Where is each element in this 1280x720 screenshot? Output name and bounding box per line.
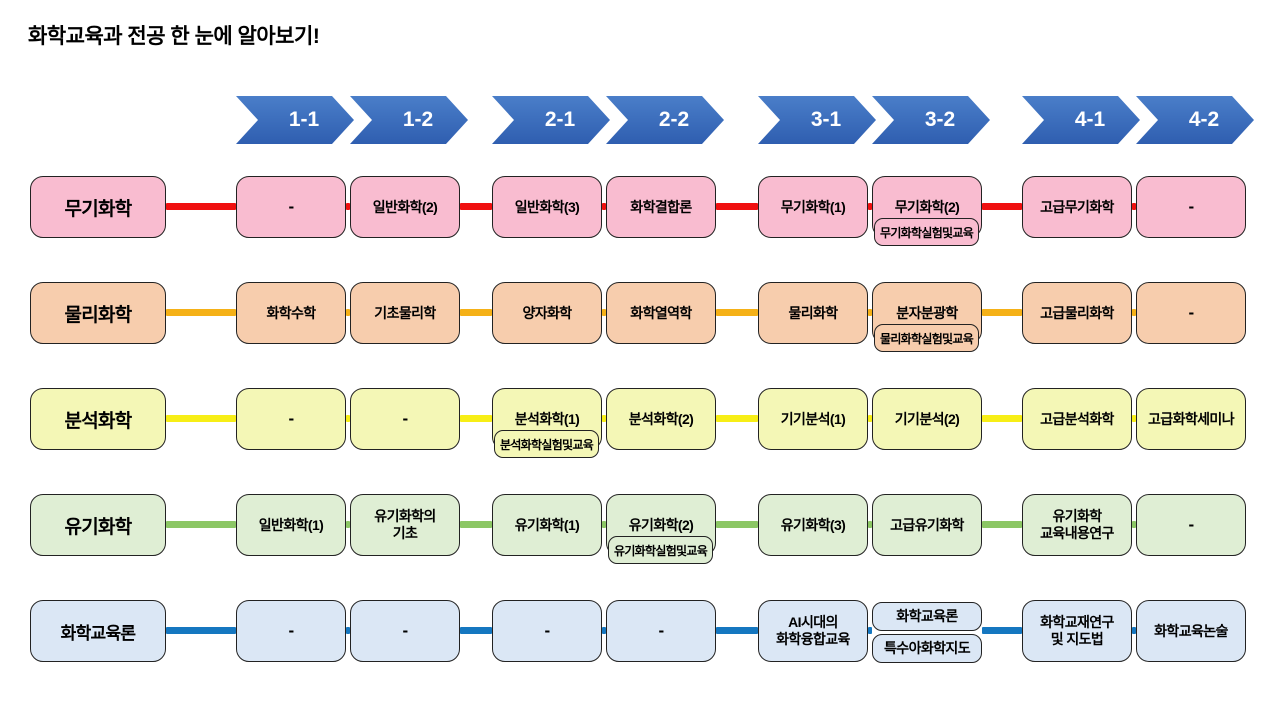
connector-bar	[716, 415, 758, 422]
course-cell[interactable]: 기기분석(1)	[758, 388, 868, 450]
connector-bar	[166, 627, 236, 634]
course-cell-label: 고급유기화학	[890, 517, 964, 534]
course-cell-label: 일반화학(2)	[373, 199, 437, 216]
course-cell[interactable]: 화학교재연구및 지도법	[1022, 600, 1132, 662]
connector-bar	[716, 203, 758, 210]
connector-bar	[982, 415, 1022, 422]
course-cell-label: 무기화학(1)	[781, 199, 845, 216]
connector-bar	[982, 627, 1022, 634]
course-cell-label: AI시대의화학융합교육	[776, 614, 850, 647]
course-cell-label: 유기화학(2)	[629, 517, 693, 534]
course-cell[interactable]: 무기화학(1)	[758, 176, 868, 238]
course-cell[interactable]: 기기분석(2)	[872, 388, 982, 450]
course-cell-label: -	[658, 621, 663, 641]
course-cell[interactable]: 화학교육논술	[1136, 600, 1246, 662]
course-cell-label: 화학교육논술	[1154, 623, 1228, 640]
course-lab-sublabel[interactable]: 분석화학실험및교육	[494, 430, 599, 458]
course-cell-label: 분석화학(1)	[515, 411, 579, 428]
track-label-inorganic[interactable]: 무기화학	[30, 176, 166, 238]
track-education: 화학교육론----AI시대의화학융합교육화학교육론특수아화학지도화학교재연구및 …	[0, 600, 1280, 700]
course-cell[interactable]: 고급유기화학	[872, 494, 982, 556]
connector-bar	[982, 309, 1022, 316]
course-cell-label: 일반화학(1)	[259, 517, 323, 534]
connector-bar	[460, 627, 492, 634]
semester-chevron-label: 2-2	[659, 108, 689, 132]
course-cell[interactable]: 일반화학(1)	[236, 494, 346, 556]
course-cell-label: 분자분광학	[896, 305, 957, 322]
course-cell-label: 유기화학(1)	[515, 517, 579, 534]
connector-bar	[982, 521, 1022, 528]
course-lab-sublabel[interactable]: 무기화학실험및교육	[874, 218, 979, 246]
connector-bar	[716, 627, 758, 634]
connector-bar	[166, 203, 236, 210]
semester-chevron-2-2[interactable]: 2-2	[606, 96, 724, 144]
track-label-education[interactable]: 화학교육론	[30, 600, 166, 662]
course-cell[interactable]: 고급화학세미나	[1136, 388, 1246, 450]
course-lab-sublabel-text: 분석화학실험및교육	[500, 436, 593, 453]
course-cell-label: 유기화학교육내용연구	[1040, 508, 1114, 541]
track-analytical: 분석화학--분석화학(1)분석화학실험및교육분석화학(2)기기분석(1)기기분석…	[0, 388, 1280, 488]
course-cell-label: 화학교육론	[896, 608, 957, 625]
course-cell-empty: -	[236, 388, 346, 450]
track-label-physical[interactable]: 물리화학	[30, 282, 166, 344]
course-cell-label: 기기분석(2)	[895, 411, 959, 428]
track-organic: 유기화학일반화학(1)유기화학의기초유기화학(1)유기화학(2)유기화학실험및교…	[0, 494, 1280, 594]
semester-chevron-3-1[interactable]: 3-1	[758, 96, 876, 144]
semester-chevron-label: 4-2	[1189, 108, 1219, 132]
semester-chevron-label: 3-2	[925, 108, 955, 132]
track-label-text: 물리화학	[64, 300, 131, 327]
course-cell[interactable]: 고급분석화학	[1022, 388, 1132, 450]
course-cell-label: 화학결합론	[630, 199, 691, 216]
course-cell-label: 고급화학세미나	[1148, 411, 1234, 428]
course-cell[interactable]: 고급물리화학	[1022, 282, 1132, 344]
semester-chevron-label: 4-1	[1075, 108, 1105, 132]
course-cell-empty: -	[1136, 282, 1246, 344]
connector-bar	[460, 415, 492, 422]
course-cell-label: -	[402, 621, 407, 641]
course-cell-label: 분석화학(2)	[629, 411, 693, 428]
course-cell[interactable]: 특수아화학지도	[872, 634, 982, 663]
connector-stub	[868, 627, 872, 634]
course-cell-label: 고급물리화학	[1040, 305, 1114, 322]
semester-chevron-1-2[interactable]: 1-2	[350, 96, 468, 144]
course-cell-label: 유기화학(3)	[781, 517, 845, 534]
course-cell[interactable]: 일반화학(2)	[350, 176, 460, 238]
semester-chevron-label: 1-1	[289, 108, 319, 132]
course-cell[interactable]: 양자화학	[492, 282, 602, 344]
course-cell-label: 기기분석(1)	[781, 411, 845, 428]
course-cell-label: 물리화학	[788, 305, 837, 322]
course-cell-label: 고급분석화학	[1040, 411, 1114, 428]
course-cell-empty: -	[606, 600, 716, 662]
course-cell-label: -	[1188, 197, 1193, 217]
course-lab-sublabel[interactable]: 물리화학실험및교육	[874, 324, 979, 352]
course-cell-label: 특수아화학지도	[884, 640, 970, 657]
track-label-text: 분석화학	[64, 406, 131, 433]
track-physical: 물리화학화학수학기초물리학양자화학화학열역학물리화학분자분광학물리화학실험및교육…	[0, 282, 1280, 382]
connector-bar	[716, 309, 758, 316]
semester-chevron-label: 2-1	[545, 108, 575, 132]
track-label-organic[interactable]: 유기화학	[30, 494, 166, 556]
course-lab-sublabel-text: 물리화학실험및교육	[880, 330, 973, 347]
course-cell-empty: -	[492, 600, 602, 662]
semester-chevron-label: 1-2	[403, 108, 433, 132]
course-cell-label: 고급무기화학	[1040, 199, 1114, 216]
connector-bar	[166, 309, 236, 316]
course-cell[interactable]: 유기화학의기초	[350, 494, 460, 556]
course-cell-label: -	[1188, 515, 1193, 535]
course-cell[interactable]: 유기화학(1)	[492, 494, 602, 556]
connector-bar	[166, 415, 236, 422]
course-cell-label: -	[402, 409, 407, 429]
semester-chevron-1-1[interactable]: 1-1	[236, 96, 354, 144]
course-cell[interactable]: 유기화학교육내용연구	[1022, 494, 1132, 556]
semester-chevron-2-1[interactable]: 2-1	[492, 96, 610, 144]
course-cell[interactable]: 물리화학	[758, 282, 868, 344]
track-label-text: 무기화학	[64, 194, 131, 221]
course-cell-label: 일반화학(3)	[515, 199, 579, 216]
course-cell[interactable]: 유기화학(3)	[758, 494, 868, 556]
connector-bar	[460, 309, 492, 316]
course-cell-label: -	[544, 621, 549, 641]
course-cell[interactable]: 기초물리학	[350, 282, 460, 344]
course-cell-label: -	[288, 409, 293, 429]
course-cell-label: 무기화학(2)	[895, 199, 959, 216]
track-label-text: 화학교육론	[61, 619, 136, 644]
connector-bar	[460, 203, 492, 210]
page-title: 화학교육과 전공 한 눈에 알아보기!	[28, 20, 319, 50]
course-cell-empty: -	[350, 388, 460, 450]
semester-chevron-4-2[interactable]: 4-2	[1136, 96, 1254, 144]
course-cell-label: 양자화학	[522, 305, 571, 322]
course-lab-sublabel-text: 유기화학실험및교육	[614, 542, 707, 559]
course-cell[interactable]: 일반화학(3)	[492, 176, 602, 238]
connector-bar	[982, 203, 1022, 210]
course-cell[interactable]: AI시대의화학융합교육	[758, 600, 868, 662]
course-cell-empty: -	[350, 600, 460, 662]
course-lab-sublabel[interactable]: 유기화학실험및교육	[608, 536, 713, 564]
course-cell[interactable]: 고급무기화학	[1022, 176, 1132, 238]
course-cell-label: -	[288, 621, 293, 641]
course-cell-empty: -	[236, 176, 346, 238]
course-cell[interactable]: 화학열역학	[606, 282, 716, 344]
course-cell-label: 화학열역학	[630, 305, 691, 322]
semester-chevron-4-1[interactable]: 4-1	[1022, 96, 1140, 144]
course-cell-label: 유기화학의기초	[374, 508, 435, 541]
semester-header-row: 1-11-22-12-23-13-24-14-2	[0, 96, 1280, 144]
course-cell[interactable]: 화학결합론	[606, 176, 716, 238]
connector-bar	[716, 521, 758, 528]
course-cell[interactable]: 분석화학(2)	[606, 388, 716, 450]
course-cell-label: -	[1188, 303, 1193, 323]
course-cell[interactable]: 화학교육론	[872, 602, 982, 631]
course-cell-empty: -	[1136, 494, 1246, 556]
course-lab-sublabel-text: 무기화학실험및교육	[880, 224, 973, 241]
semester-chevron-3-2[interactable]: 3-2	[872, 96, 990, 144]
track-label-analytical[interactable]: 분석화학	[30, 388, 166, 450]
course-cell-label: 화학교재연구및 지도법	[1040, 614, 1114, 647]
course-cell-empty: -	[1136, 176, 1246, 238]
course-cell[interactable]: 화학수학	[236, 282, 346, 344]
course-cell-empty: -	[236, 600, 346, 662]
connector-bar	[460, 521, 492, 528]
semester-chevron-label: 3-1	[811, 108, 841, 132]
track-inorganic: 무기화학-일반화학(2)일반화학(3)화학결합론무기화학(1)무기화학(2)무기…	[0, 176, 1280, 276]
course-cell-label: -	[288, 197, 293, 217]
track-label-text: 유기화학	[64, 512, 131, 539]
course-cell-label: 기초물리학	[374, 305, 435, 322]
connector-bar	[166, 521, 236, 528]
course-cell-label: 화학수학	[266, 305, 315, 322]
